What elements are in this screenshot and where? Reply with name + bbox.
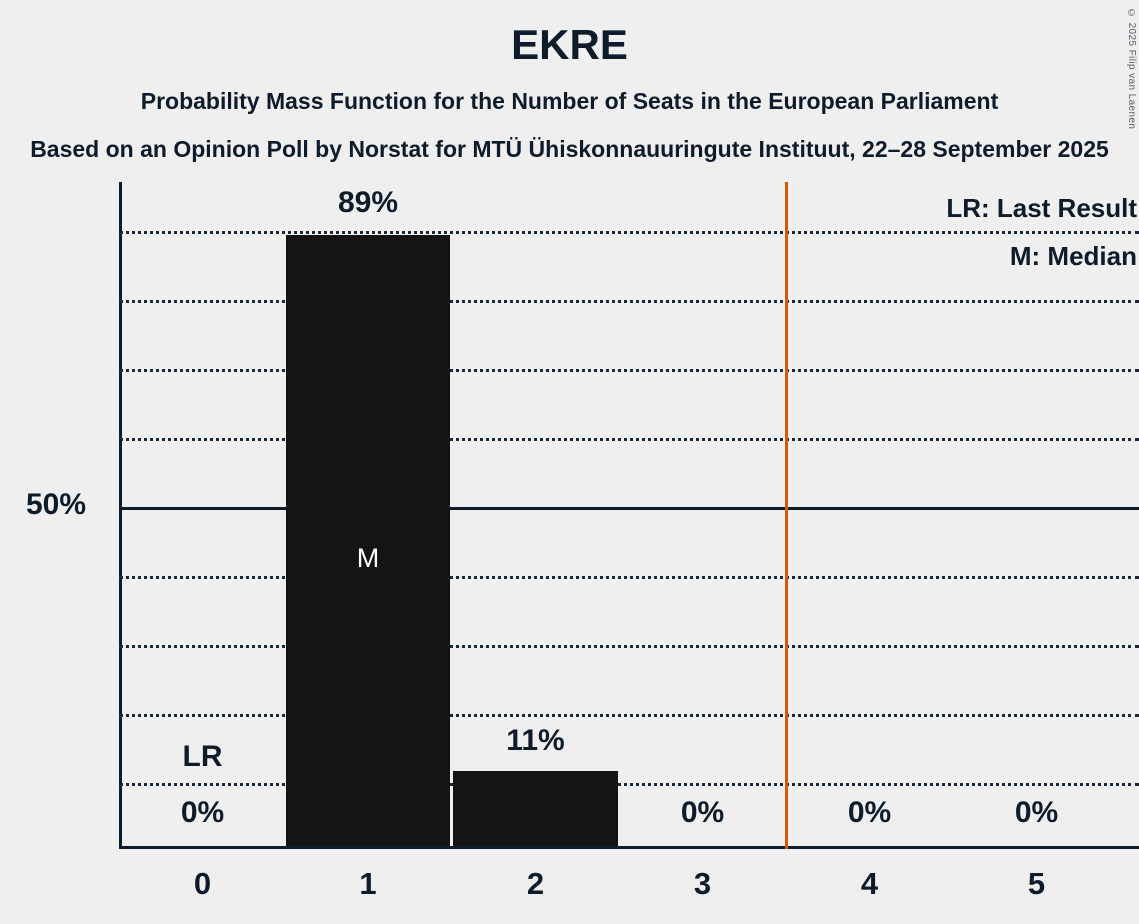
bar-2 [453, 771, 618, 846]
y-axis-tick-label-50: 50% [26, 488, 86, 522]
last-result-marker-label: LR [119, 740, 286, 774]
value-label-5: 0% [953, 796, 1120, 830]
value-label-1: 89% [286, 186, 450, 220]
x-axis-tick-label-0: 0 [119, 866, 286, 902]
x-axis-tick-label-4: 4 [786, 866, 953, 902]
gridline-70 [119, 369, 1139, 372]
gridline-60 [119, 438, 1139, 441]
x-axis-tick-label-3: 3 [619, 866, 786, 902]
value-label-3: 0% [619, 796, 786, 830]
x-axis-line [119, 846, 1139, 849]
gridline-80 [119, 300, 1139, 303]
x-axis-tick-label-5: 5 [953, 866, 1120, 902]
gridline-30 [119, 645, 1139, 648]
last-result-line [785, 182, 788, 849]
gridline-40 [119, 576, 1139, 579]
value-label-0: 0% [119, 796, 286, 830]
page-title: EKRE [0, 24, 1139, 66]
value-label-4: 0% [786, 796, 953, 830]
x-axis-tick-label-2: 2 [453, 866, 618, 902]
gridline-90 [119, 231, 1139, 234]
gridline-50 [119, 507, 1139, 510]
value-label-2: 11% [453, 724, 618, 758]
gridline-20 [119, 714, 1139, 717]
chart-subtitle: Probability Mass Function for the Number… [0, 88, 1139, 116]
median-marker-label: M [286, 543, 450, 574]
copyright-notice: © 2025 Filip van Laenen [1126, 8, 1137, 129]
x-axis-tick-label-1: 1 [286, 866, 450, 902]
bar-1: M [286, 235, 450, 846]
chart-source-line: Based on an Opinion Poll by Norstat for … [30, 136, 1109, 164]
gridline-10 [119, 783, 1139, 786]
